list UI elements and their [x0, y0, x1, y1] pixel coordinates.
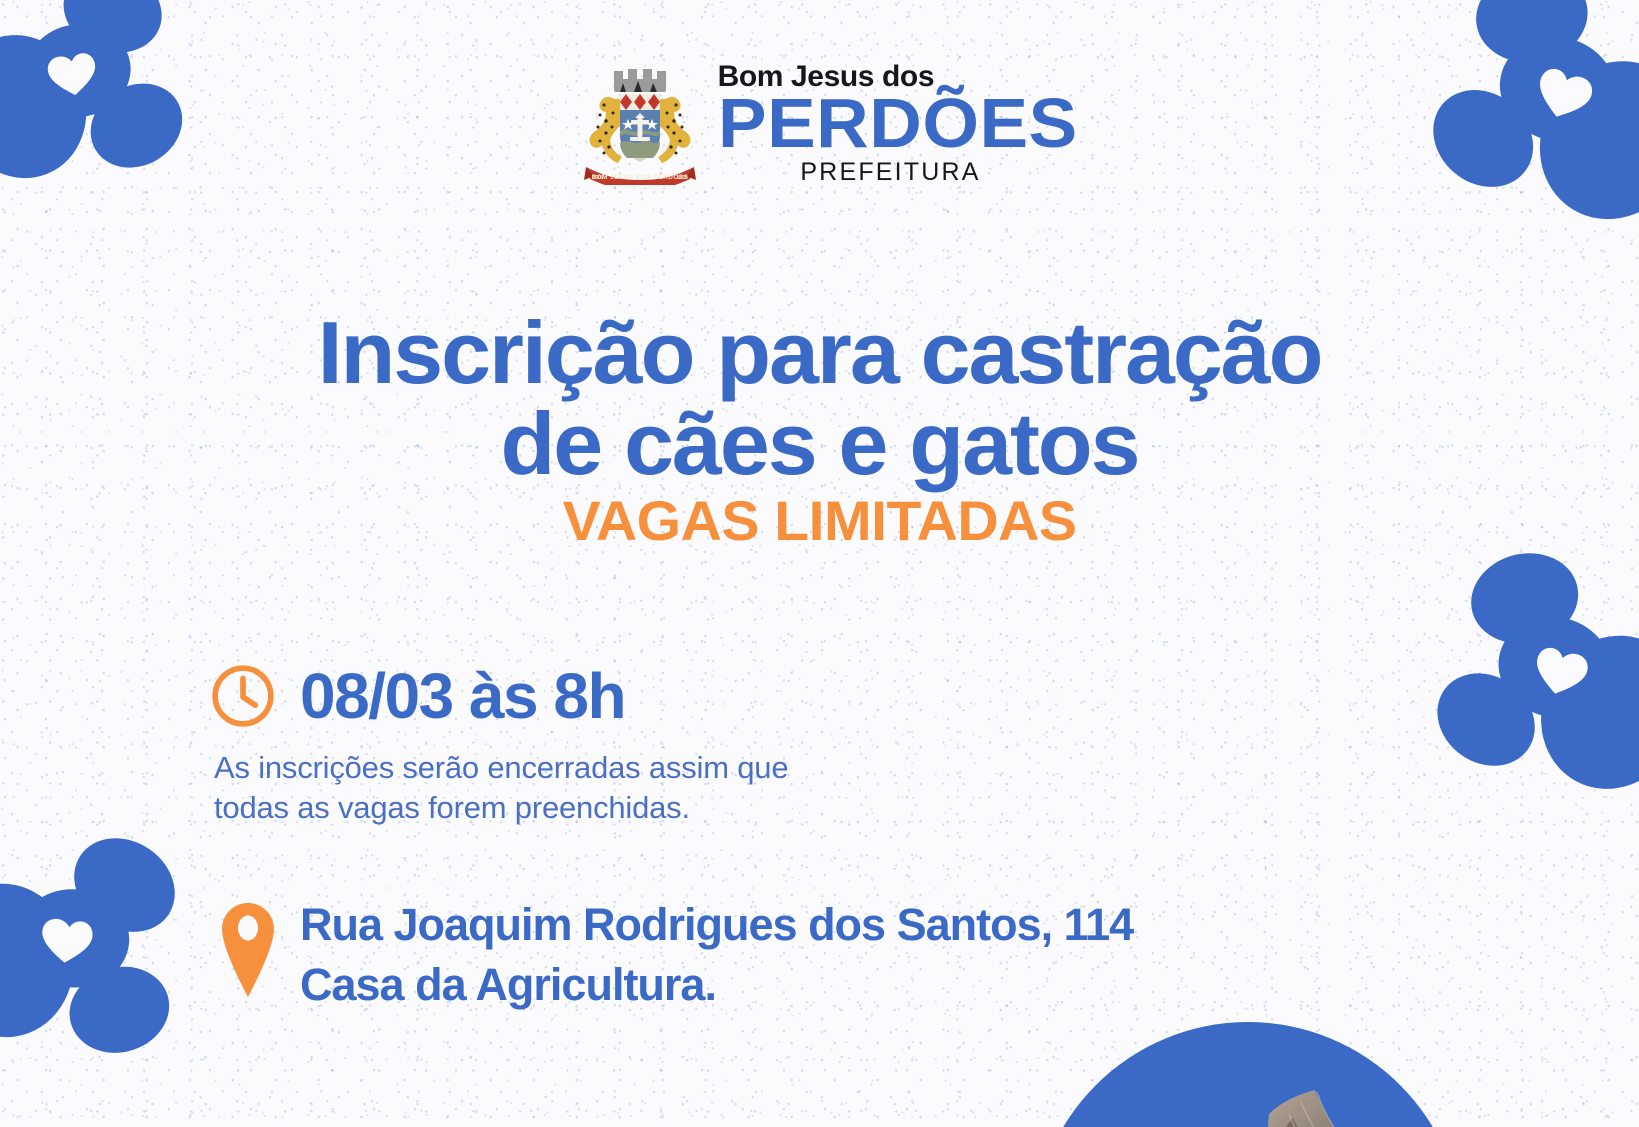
registration-note: As inscrições serão encerradas assim que… [214, 748, 788, 827]
pet-photo-circle [1033, 1022, 1463, 1127]
poster-canvas: BOM JESUS DOS PERDÕES 1901 1959 Bom Jesu… [0, 0, 1639, 1127]
address-text: Rua Joaquim Rodrigues dos Santos, 114 Ca… [300, 895, 1133, 1015]
pet-ear-fur [1231, 1084, 1431, 1127]
brand-line-2: PERDÕES [718, 93, 1078, 153]
address-block: Rua Joaquim Rodrigues dos Santos, 114 Ca… [218, 895, 1133, 1015]
paw-print-icon-bottom-left [0, 797, 208, 1088]
event-date-time: 08/03 às 8h [300, 664, 625, 728]
brand-wordmark: Bom Jesus dos PERDÕES PREFEITURA [718, 62, 1064, 185]
subtitle-limited-slots: VAGAS LIMITADAS [0, 488, 1639, 553]
coat-of-arms-icon: BOM JESUS DOS PERDÕES 1901 1959 [576, 63, 704, 185]
page-title: Inscrição para castração de cães e gatos [0, 307, 1639, 490]
address-line-1: Rua Joaquim Rodrigues dos Santos, 114 [300, 895, 1133, 955]
paw-print-icon-middle-right [1400, 511, 1639, 838]
svg-text:1901: 1901 [592, 175, 603, 181]
page-title-line-2: de cães e gatos [0, 398, 1639, 490]
svg-text:1959: 1959 [676, 175, 687, 181]
page-title-line-1: Inscrição para castração [318, 303, 1322, 402]
map-pin-icon [218, 901, 278, 999]
clock-icon [210, 663, 276, 729]
registration-note-line-2: todas as vagas forem preenchidas. [214, 788, 788, 828]
date-block: 08/03 às 8h [210, 663, 625, 729]
address-line-2: Casa da Agricultura. [300, 955, 1133, 1015]
brand-logo: BOM JESUS DOS PERDÕES 1901 1959 Bom Jesu… [0, 62, 1639, 185]
brand-line-3: PREFEITURA [800, 160, 980, 185]
registration-note-line-1: As inscrições serão encerradas assim que [214, 748, 788, 788]
svg-text:BOM JESUS DOS PERDÕES: BOM JESUS DOS PERDÕES [591, 172, 688, 181]
